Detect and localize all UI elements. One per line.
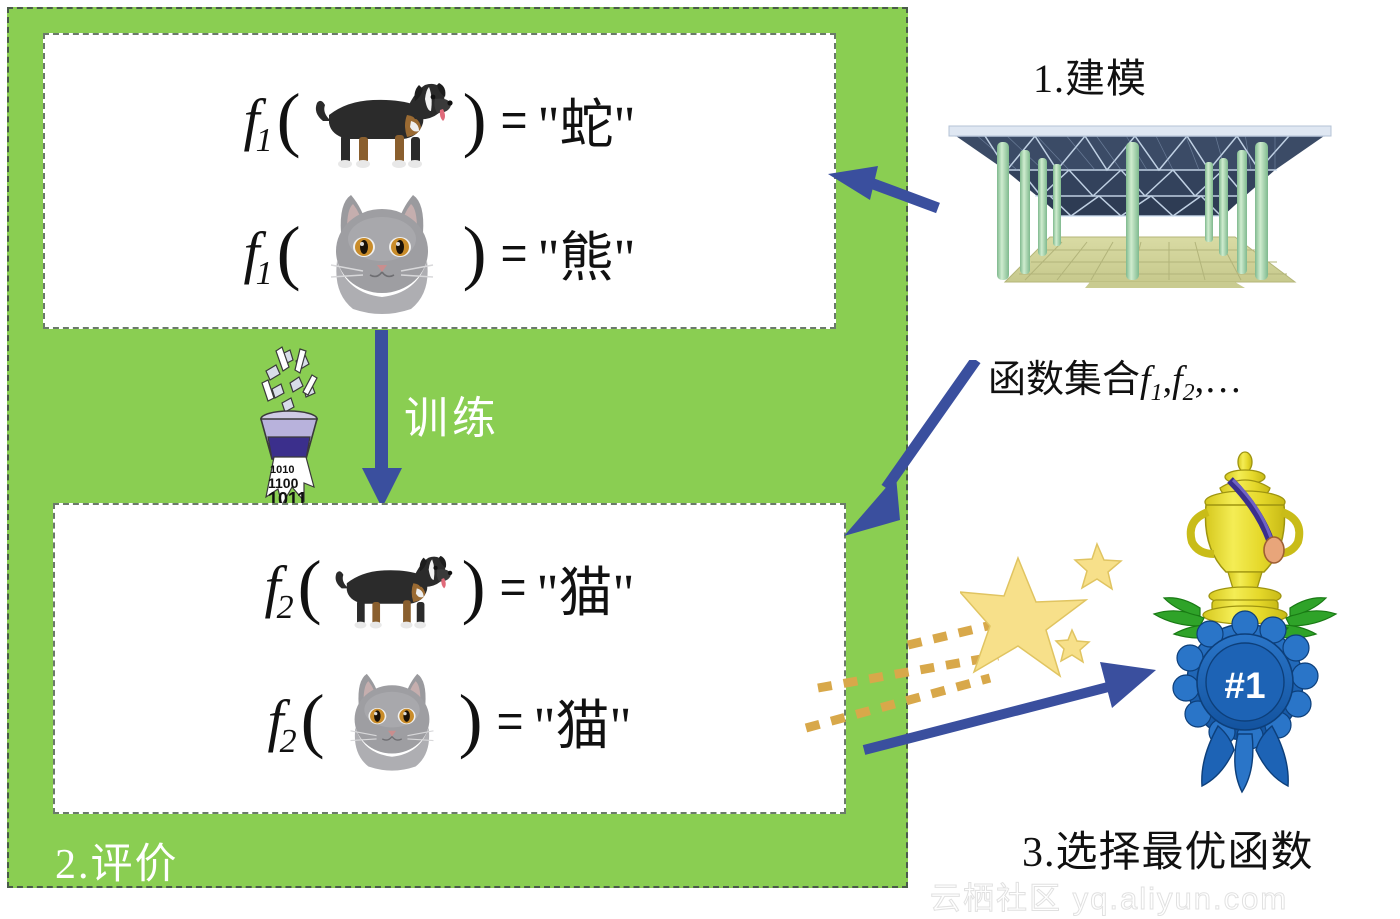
equation-row: f2 ( — [55, 653, 844, 788]
function-symbol-f1: f1 — [243, 91, 276, 149]
training-arrow-down — [352, 330, 412, 510]
close-paren: ) — [463, 224, 487, 282]
function-symbol-f2: f2 — [264, 558, 297, 616]
model-f2-box: f2 ( — [53, 503, 846, 814]
equals-sign: = — [501, 93, 528, 147]
close-paren: ) — [459, 692, 483, 750]
f2-subscript: 2 — [1183, 380, 1195, 406]
fn-separator: , — [1163, 359, 1173, 401]
model-f1-box: f1 ( — [43, 33, 836, 329]
equals-sign: = — [501, 226, 528, 280]
equals-sign: = — [500, 560, 527, 614]
training-label: 训练 — [404, 382, 500, 446]
diagram-canvas: f1 ( — [0, 0, 1400, 919]
function-symbol-f1: f1 — [243, 224, 276, 282]
open-paren: ( — [277, 224, 301, 282]
predicted-label: "蛇" — [537, 80, 635, 159]
data-funnel-icon: 1010 1100 1011 — [248, 345, 330, 510]
open-paren: ( — [298, 558, 322, 616]
open-paren: ( — [277, 91, 301, 149]
equation-row: f1 ( — [45, 57, 834, 182]
watermark-text: 云栖社区 yq.aliyun.com — [930, 873, 1288, 918]
ribbon-number: #1 — [1224, 665, 1265, 706]
arrow-to-best-function — [860, 650, 1180, 770]
function-set-label: 函数集合f1,f2,… — [988, 348, 1242, 403]
f1-subscript: 1 — [1151, 380, 1163, 406]
step-2-label: 2.评价 — [55, 830, 179, 891]
close-paren: ) — [462, 558, 486, 616]
arrow-model-to-f1box — [826, 160, 1006, 230]
fn-suffix: ,… — [1195, 359, 1243, 401]
function-symbol-f2: f2 — [267, 692, 300, 750]
cat-photo — [307, 189, 457, 317]
equals-sign: = — [497, 694, 524, 748]
f1-symbol: f — [1140, 359, 1151, 401]
f2-symbol: f — [1172, 359, 1183, 401]
open-paren: ( — [301, 692, 325, 750]
equation-row: f2 ( — [55, 527, 844, 647]
step-3-label: 3.选择最优函数 — [1022, 818, 1314, 879]
cat-photo — [331, 665, 453, 777]
arrow-funcset-to-f2box — [826, 360, 1026, 540]
equation-row: f1 ( — [45, 185, 834, 320]
predicted-label: "猫" — [533, 681, 631, 760]
predicted-label: "猫" — [536, 548, 634, 627]
dog-photo — [328, 540, 456, 635]
predicted-label: "熊" — [537, 213, 635, 292]
dog-photo — [307, 65, 457, 175]
close-paren: ) — [463, 91, 487, 149]
